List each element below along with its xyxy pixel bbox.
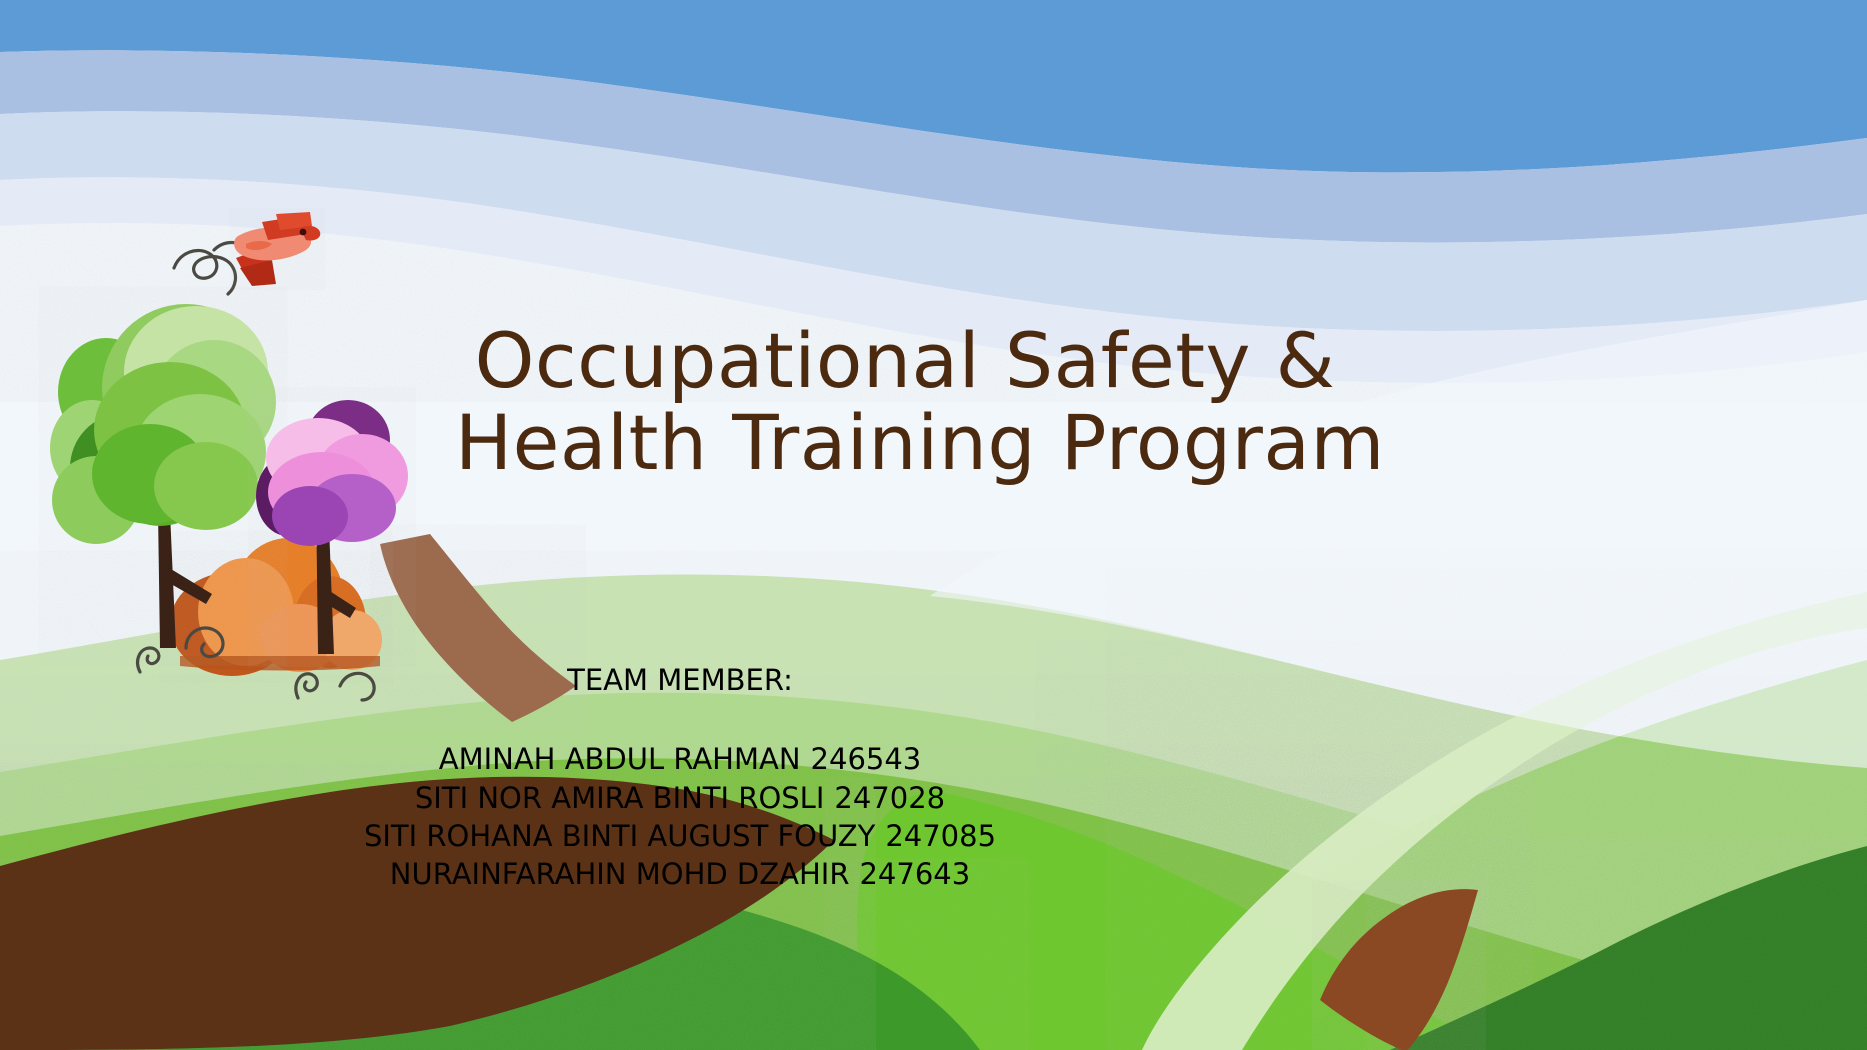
title-line-1: Occupational Safety & [455, 320, 1355, 402]
title-slide: Occupational Safety & Health Training Pr… [0, 0, 1867, 1050]
team-member-name: SITI NOR AMIRA BINTI ROSLI [415, 781, 825, 815]
team-member-row: SITI NOR AMIRA BINTI ROSLI247028 [240, 779, 1120, 817]
dark-green-sliver [1390, 846, 1867, 1050]
team-member-list: AMINAH ABDUL RAHMAN246543SITI NOR AMIRA … [240, 740, 1120, 893]
team-spacer [240, 698, 1120, 740]
team-member-row: SITI ROHANA BINTI AUGUST FOUZY247085 [240, 817, 1120, 855]
team-member-id: 246543 [811, 742, 922, 776]
team-member-row: AMINAH ABDUL RAHMAN246543 [240, 740, 1120, 778]
team-member-id: 247085 [885, 819, 996, 853]
pink-tree [256, 400, 408, 654]
team-member-id: 247028 [834, 781, 945, 815]
green-tree [50, 304, 276, 648]
dirt-path-right [1320, 889, 1478, 1050]
orange-bush [170, 538, 382, 676]
deep-green-hill [0, 868, 980, 1050]
team-member-name: SITI ROHANA BINTI AUGUST FOUZY [364, 819, 875, 853]
team-member-id: 247643 [859, 857, 970, 891]
bright-green-sweep [1075, 660, 1867, 1050]
team-member-row: NURAINFARAHIN MOHD DZAHIR247643 [240, 855, 1120, 893]
team-member-name: NURAINFARAHIN MOHD DZAHIR [390, 857, 850, 891]
bird-icon [234, 212, 320, 286]
team-member-block: TEAM MEMBER: AMINAH ABDUL RAHMAN246543SI… [240, 662, 1120, 893]
team-member-name: AMINAH ABDUL RAHMAN [439, 742, 801, 776]
team-member-heading: TEAM MEMBER: [240, 662, 1120, 698]
slide-title: Occupational Safety & Health Training Pr… [455, 320, 1355, 484]
title-line-2: Health Training Program [455, 402, 1355, 484]
pale-green-ribbon [1142, 592, 1867, 1050]
swirl-icon-group [138, 243, 375, 701]
